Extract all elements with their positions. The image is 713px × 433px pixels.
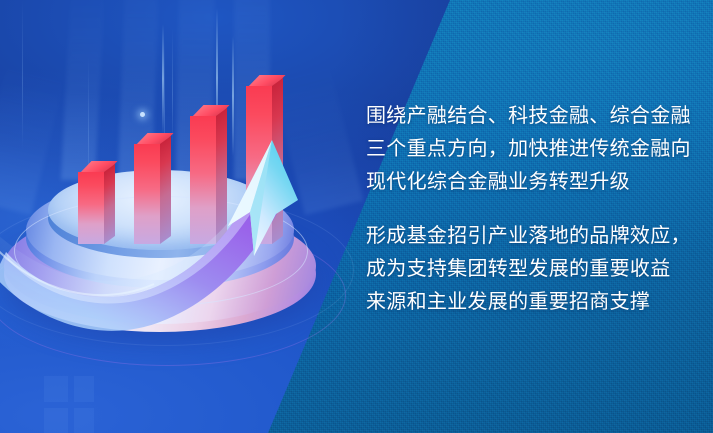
paragraph-2-line-3: 来源和主业发展的重要招商支撑	[366, 286, 698, 319]
paragraph-1-line-1: 围绕产融结合、科技金融、综合金融	[366, 100, 698, 133]
paragraph-1: 围绕产融结合、科技金融、综合金融 三个重点方向，加快推进传统金融向 现代化综合金…	[366, 100, 698, 199]
illustration-3d-growth-chart	[0, 96, 340, 396]
paragraph-1-line-3: 现代化综合金融业务转型升级	[366, 166, 698, 199]
paragraph-2-line-1: 形成基金招引产业落地的品牌效应，	[366, 220, 698, 253]
banner-stage: 围绕产融结合、科技金融、综合金融 三个重点方向，加快推进传统金融向 现代化综合金…	[0, 0, 713, 433]
paragraph-2: 形成基金招引产业落地的品牌效应， 成为支持集团转型发展的重要收益 来源和主业发展…	[366, 220, 698, 319]
text-column: 围绕产融结合、科技金融、综合金融 三个重点方向，加快推进传统金融向 现代化综合金…	[366, 100, 698, 319]
paragraph-2-line-2: 成为支持集团转型发展的重要收益	[366, 253, 698, 286]
upward-arrow-icon	[0, 96, 340, 396]
paragraph-1-line-2: 三个重点方向，加快推进传统金融向	[366, 133, 698, 166]
